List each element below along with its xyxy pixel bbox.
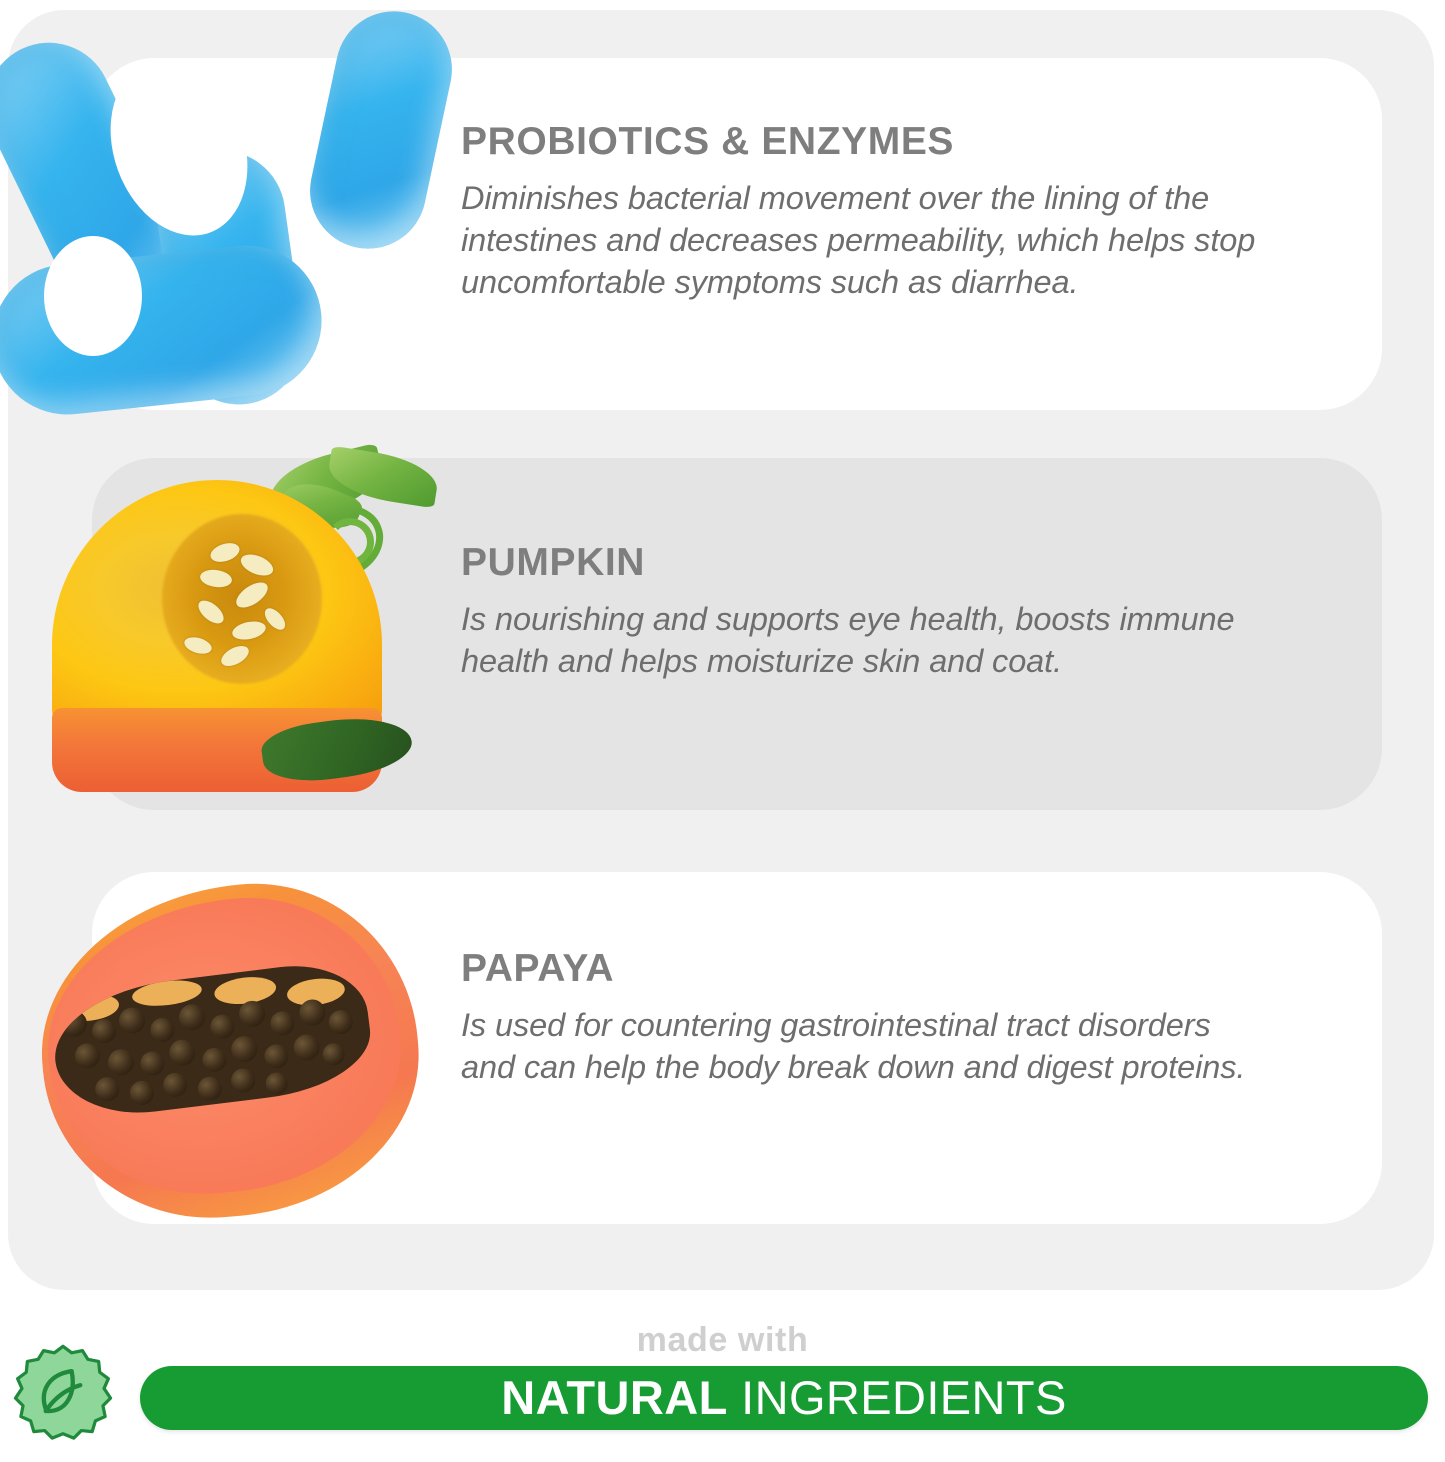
- made-with-label: made with: [0, 1321, 1445, 1360]
- card-text-pumpkin: PUMPKIN Is nourishing and supports eye h…: [461, 543, 1261, 682]
- banner-strong-word: NATURAL: [501, 1371, 727, 1424]
- capsule-gap: [44, 236, 142, 356]
- card-title: PROBIOTICS & ENZYMES: [461, 122, 1261, 163]
- footer: made with NATURAL INGREDIENTS: [0, 1296, 1445, 1462]
- card-text-papaya: PAPAYA Is used for countering gastrointe…: [461, 949, 1261, 1088]
- pumpkin-image: [34, 452, 424, 812]
- card-description: Is used for countering gastrointestinal …: [461, 1004, 1261, 1089]
- card-title: PUMPKIN: [461, 543, 1261, 584]
- papaya-image: [36, 878, 436, 1223]
- card-description: Diminishes bacterial movement over the l…: [461, 177, 1261, 304]
- banner-text: NATURAL INGREDIENTS: [501, 1374, 1067, 1421]
- banner-light-word: INGREDIENTS: [728, 1371, 1067, 1424]
- card-title: PAPAYA: [461, 949, 1261, 990]
- natural-ingredients-banner: NATURAL INGREDIENTS: [140, 1366, 1428, 1430]
- leaf-badge-icon: [9, 1342, 117, 1450]
- card-text-probiotics: PROBIOTICS & ENZYMES Diminishes bacteria…: [461, 122, 1261, 304]
- card-description: Is nourishing and supports eye health, b…: [461, 598, 1261, 683]
- probiotic-capsules-image: [18, 40, 438, 415]
